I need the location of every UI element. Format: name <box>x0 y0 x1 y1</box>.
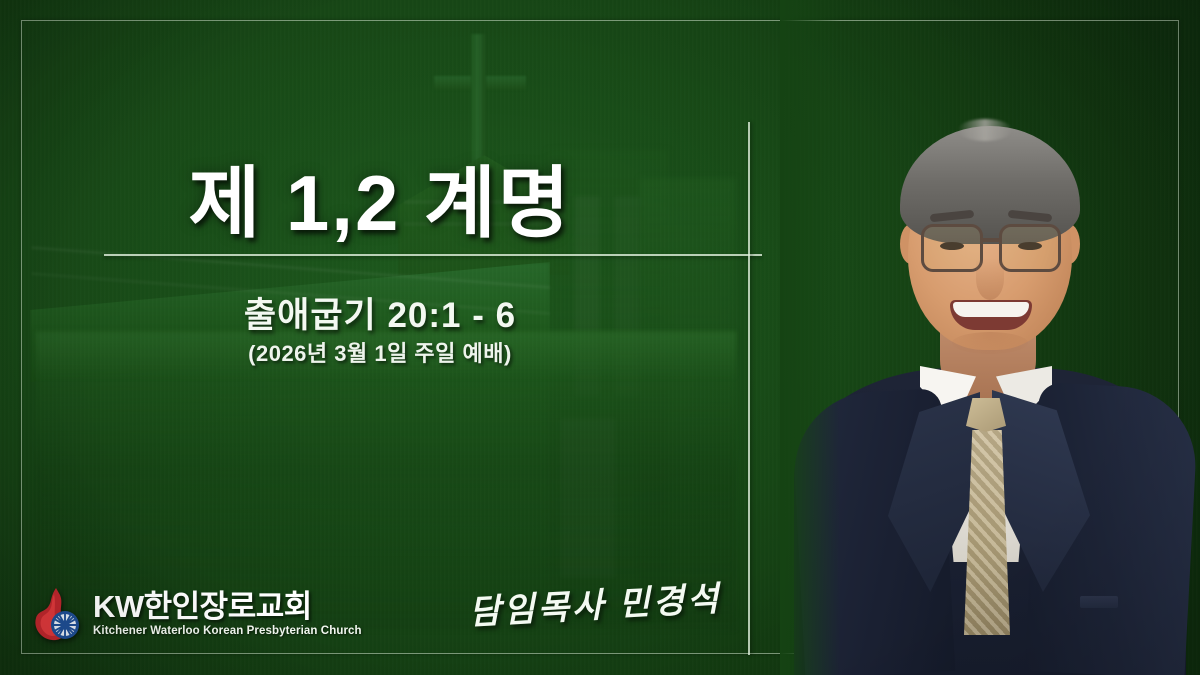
church-gable-siding-line <box>404 222 564 226</box>
church-gable <box>398 155 570 275</box>
chin-shadow <box>952 332 1028 354</box>
church-window <box>614 196 640 396</box>
church-roof-edge <box>31 272 550 315</box>
sermon-title: 제 1,2 계명 <box>0 163 760 245</box>
flame-and-globe-cross-emblem <box>30 585 84 643</box>
church-cross-post <box>471 34 486 166</box>
eyeglasses-lens <box>921 224 983 272</box>
scripture-reference: 출애굽기 20:1 - 6 <box>0 287 760 338</box>
church-logo: KW한인장로교회 Kitchener Waterloo Korean Presb… <box>30 585 362 643</box>
sermon-title-slide: 제 1,2 계명 출애굽기 20:1 - 6 (2026년 3월 1일 주일 예… <box>0 0 1200 675</box>
church-name-korean: KW한인장로교회 <box>93 591 362 623</box>
church-window <box>574 196 600 396</box>
church-body-highlight <box>36 332 736 380</box>
nose <box>976 258 1004 300</box>
necktie-knot <box>966 398 1006 432</box>
church-tower-secondary <box>640 178 736 618</box>
pastor-portrait <box>780 0 1200 675</box>
pastor-portrait-figure <box>780 0 1200 675</box>
service-date: (2026년 3월 1일 주일 예배) <box>0 336 760 368</box>
eyeglasses-bridge <box>982 238 1001 242</box>
church-cross-crossbar <box>434 76 526 90</box>
hair-highlight <box>958 119 1012 141</box>
portrait-edge-blend <box>780 0 840 675</box>
title-block: 제 1,2 계명 출애굽기 20:1 - 6 (2026년 3월 1일 주일 예… <box>0 0 760 675</box>
church-roof <box>30 262 550 382</box>
mouth <box>950 300 1032 330</box>
church-entrance <box>560 418 616 578</box>
church-roof-edge <box>31 246 550 289</box>
horizontal-divider-rule <box>104 254 762 256</box>
eyeglasses-lens <box>999 224 1061 272</box>
church-name-english: Kitchener Waterloo Korean Presbyterian C… <box>93 625 362 637</box>
church-tower <box>548 150 668 620</box>
church-gable-siding-line <box>404 200 564 204</box>
suit-pocket <box>1080 596 1118 608</box>
pastor-caption: 담임목사 민경석 <box>429 569 761 636</box>
vertical-divider-rule <box>748 122 750 655</box>
church-logo-text: KW한인장로교회 Kitchener Waterloo Korean Presb… <box>93 591 362 638</box>
teeth <box>953 302 1029 317</box>
